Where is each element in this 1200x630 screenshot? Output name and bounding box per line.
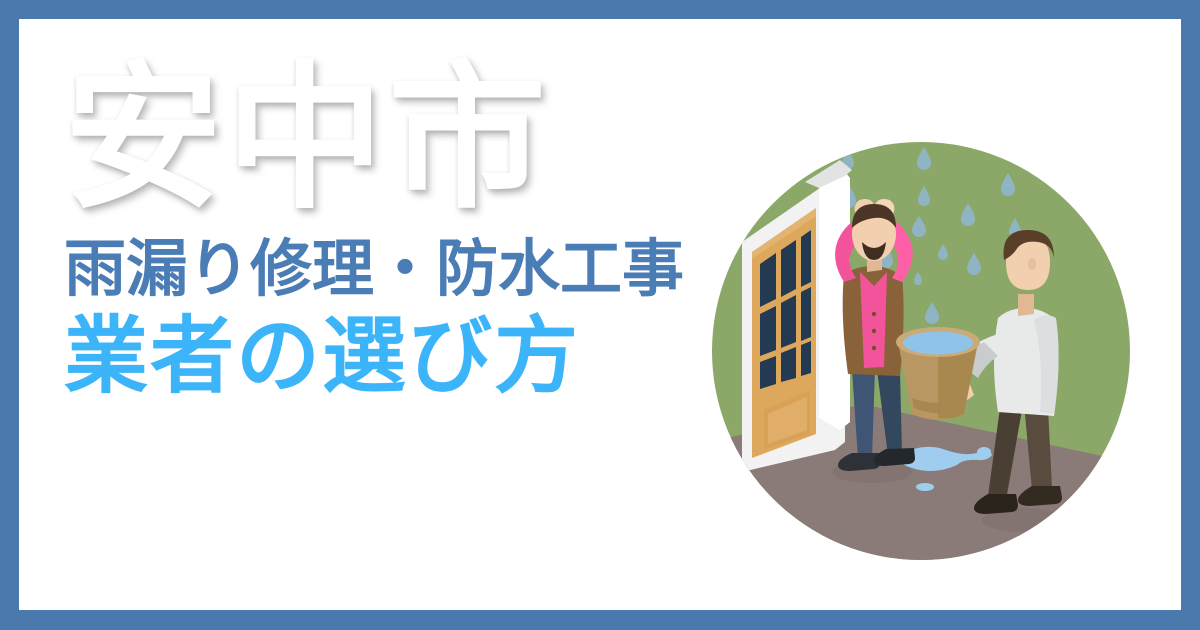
banner-inner-canvas: 安中市 雨漏り修理・防水工事 業者の選び方 [19, 19, 1181, 610]
vest-button [872, 346, 876, 350]
door-glass-pane [781, 347, 796, 382]
illustration-scene [712, 142, 1130, 560]
bucket-water [903, 332, 973, 355]
page-lead-text: 業者の選び方 [64, 310, 724, 402]
shirt-front [860, 272, 887, 368]
door-glass-pane [781, 240, 796, 297]
banner-root: 安中市 雨漏り修理・防水工事 業者の選び方 [0, 0, 1200, 630]
illustration-svg [712, 142, 1130, 560]
vest-button [872, 329, 876, 333]
headline-block: 安中市 雨漏り修理・防水工事 業者の選び方 [64, 59, 724, 402]
water-droplet-splash [916, 483, 934, 491]
door-glass-pane [760, 306, 776, 356]
page-subtitle-service: 雨漏り修理・防水工事 [64, 234, 724, 303]
illustration-roof-leak [712, 142, 1130, 560]
door-glass-pane [801, 287, 811, 341]
vest-button [872, 312, 876, 316]
door-glass-pane [801, 341, 811, 376]
water-droplet-splash [977, 447, 991, 457]
neck [1018, 294, 1034, 316]
ear [1028, 258, 1036, 270]
door-assembly [742, 160, 852, 472]
page-title-city: 安中市 [64, 59, 724, 220]
door-glass-pane [781, 295, 796, 348]
door-glass-pane [801, 230, 811, 287]
